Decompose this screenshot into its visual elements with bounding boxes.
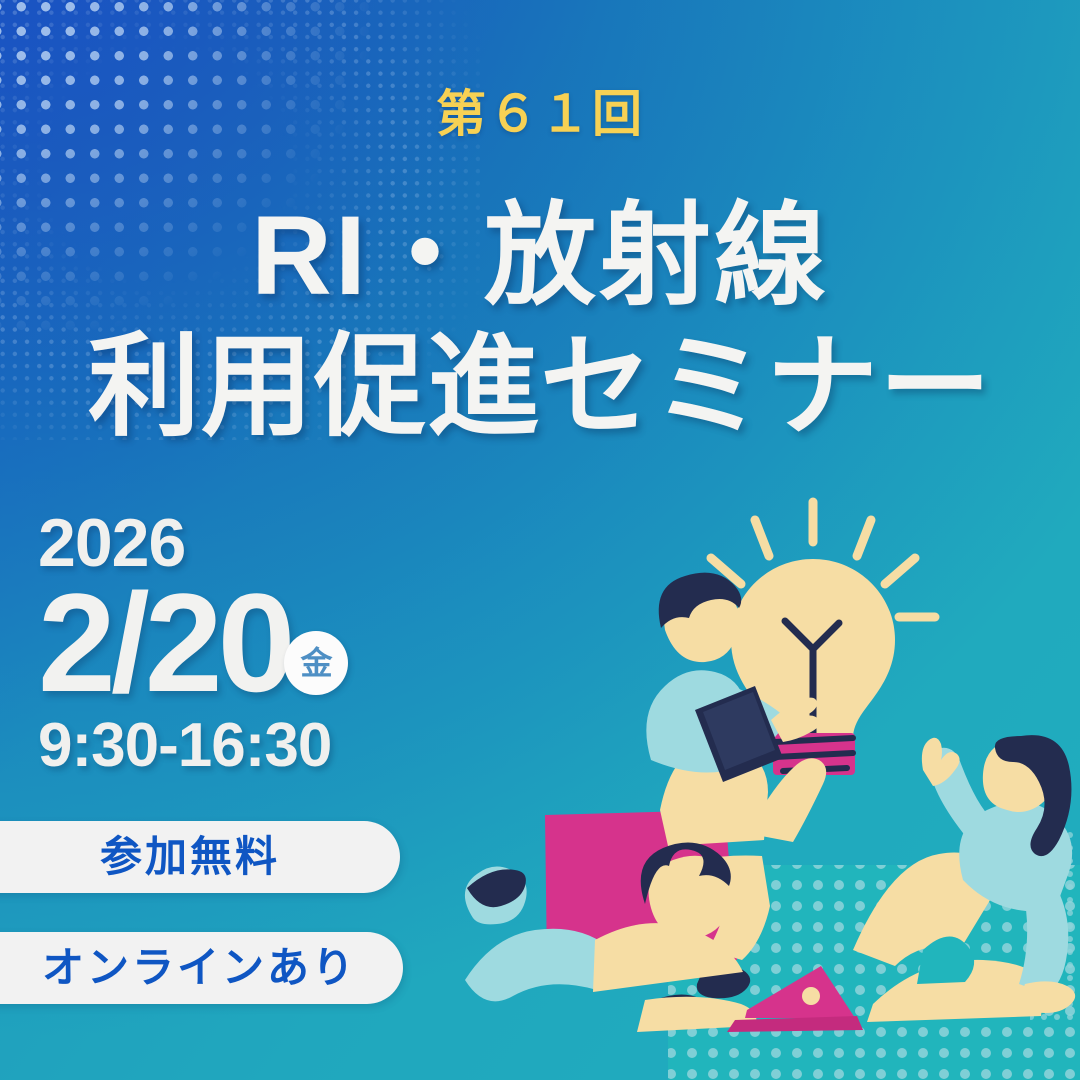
event-date-block: 2026 2/20 金 9:30-16:30 xyxy=(38,512,348,777)
edition-label: 第６１回 xyxy=(0,74,1080,146)
page-title-line-1: RI・放射線 xyxy=(0,197,1080,315)
event-day: 2/20 xyxy=(38,579,290,708)
laptop-logo xyxy=(802,987,820,1005)
event-day-row: 2/20 金 xyxy=(38,579,348,708)
badge-free-admission: 参加無料 xyxy=(0,821,400,893)
day-of-week-badge: 金 xyxy=(284,631,348,695)
lying-person-legs xyxy=(465,929,607,1002)
poster-canvas: 第６１回 RI・放射線 利用促進セミナー 2026 2/20 金 9:30-16… xyxy=(0,0,1080,1080)
badge-online-available: オンラインあり xyxy=(0,932,403,1004)
day-of-week-label: 金 xyxy=(300,647,332,679)
teamwork-idea-illustration xyxy=(455,480,1080,1080)
badge-free-admission-label: 参加無料 xyxy=(100,836,280,878)
page-title-line-2: 利用促進セミナー xyxy=(0,328,1080,446)
badge-online-available-label: オンラインあり xyxy=(42,947,357,989)
event-time: 9:30-16:30 xyxy=(38,715,348,777)
